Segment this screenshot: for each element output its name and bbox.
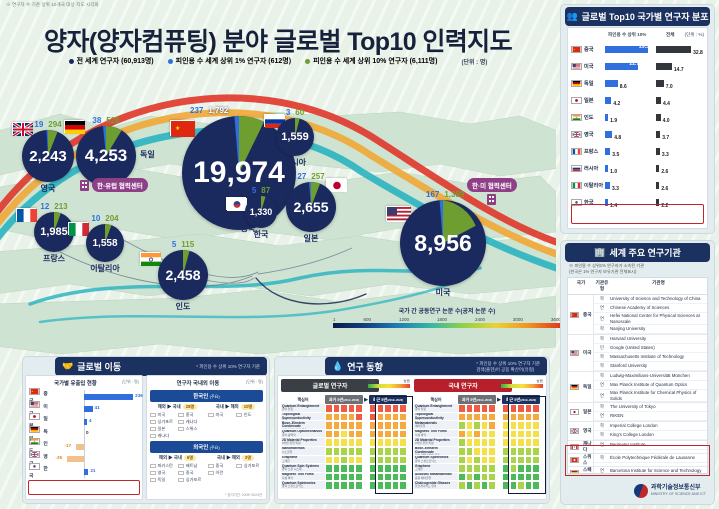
flag-germany-icon (64, 120, 84, 133)
researcher-flow-blocks: 한국인 (주요)해외 ▶ 국내 28명미국중국싱가포르캐나다일본스위스캐나다국내… (150, 390, 263, 483)
country-flow-card: 국가별 유출입 현황 (단위 : 명) ★ 중국236 미국41 일본4 독일0… (25, 375, 143, 500)
scale-tick: 1200 (399, 317, 409, 322)
heatmap-past (458, 456, 496, 465)
keyword-header: 핵심어 (281, 397, 325, 403)
institution-name: École Polytechnique Fédérale de Lausanne (610, 455, 707, 461)
institution-type: 연 (594, 382, 610, 388)
flag-de-icon (571, 80, 582, 87)
heatmap-recent (369, 456, 407, 465)
heatmap-past (458, 404, 496, 413)
heatmap-legend: 낮음 높음 (368, 379, 410, 388)
list-item: 연Chinese Academy of Sciences (594, 304, 707, 313)
institution-type: 학 (594, 296, 610, 302)
flow-country: 베트남 (178, 463, 203, 469)
heatmap-recent (502, 456, 540, 465)
heatmap-keyword: Topological Superconductivity위상 초전도 (414, 413, 458, 422)
flow-country: 미국 (208, 412, 233, 418)
mobility-panel: 🤝 글로벌 이동 * 피인용 수 상위 10% 연구자 기준 국가별 유출입 현… (22, 356, 270, 504)
heatmap-row: Topological Superconductivity위상 초전도 (414, 413, 543, 422)
node-top10: 213 (54, 202, 67, 211)
heatmap-keyword: Graphene그래핀 (281, 456, 325, 465)
title-unit: (단위 : 명) (122, 379, 139, 385)
heatmap-keyword: Quantum Spintronics양자 스핀트로닉스 (281, 481, 325, 490)
node-top10: 115 (181, 240, 194, 249)
bar-value: 8.6 (620, 84, 627, 90)
node-value: 2,243 (29, 148, 67, 165)
node-tags: 12 213 (40, 202, 67, 211)
bar-value: 3.5 (612, 152, 619, 158)
node-tags: 10 204 (91, 214, 118, 223)
title-text: 국가별 유출입 현황 (54, 381, 97, 387)
list-item: 민Google (United States) (594, 344, 707, 353)
node-tags: 19 294 (34, 120, 61, 129)
node-top1: 5 (252, 186, 256, 195)
node-tags: 5 87 (252, 186, 270, 195)
institution-type: 연 (594, 393, 610, 399)
legend-gradient (501, 384, 543, 388)
heatmap-recent (502, 473, 540, 482)
node-circle: 2,458 (158, 250, 208, 300)
legend-dot-icon (69, 59, 74, 64)
legend-low: 낮음 (368, 379, 375, 384)
legend-low: 낮음 (501, 379, 508, 384)
flag-uk-icon (12, 122, 32, 135)
flow-count: 10명 (241, 404, 256, 410)
trends-panel: 💧 연구 동향 * 피인용 수 상위 10% 연구자 기준 검색(출현)어 공동… (274, 356, 550, 504)
mobility-title: 글로벌 이동 (77, 360, 121, 373)
flag-korea-icon (226, 197, 246, 210)
scale-tick: 600 (363, 317, 371, 322)
institution-name: Nanjing University (610, 326, 707, 332)
flag-us-icon (570, 350, 579, 356)
heatmap-recent (369, 404, 407, 413)
flow-items: 미국중국싱가포르캐나다일본스위스캐나다 (150, 412, 205, 439)
node-top1: 167 (426, 190, 439, 199)
center-label: 한·미 협력센터 (467, 178, 517, 192)
flow-country: 인도 (236, 412, 261, 418)
people-icon: 👥 (566, 11, 577, 22)
domestic-caption: 국내 연구자 (414, 379, 512, 392)
bar-total: 2.6 (656, 160, 704, 178)
map-node-japan[interactable]: 27 257 2,655 일본 (286, 182, 336, 232)
flow-direction: 국내 ▶ 해외 3명 (208, 455, 263, 461)
row-value: -35 (56, 455, 63, 460)
global-heatmap: Quantum Entanglement양자 얽힘Topological Sup… (281, 404, 410, 490)
heatmap-keyword: Graphene그래핀 (414, 464, 458, 473)
flag-jp-icon (571, 97, 582, 104)
bar-value: 4.0 (663, 118, 670, 124)
mobility-subtitle: * 피인용 수 상위 10% 연구자 기준 (196, 364, 260, 370)
heatmap-past (458, 438, 496, 447)
flow-columns: 해외 ▶ 국내 6명파키스탄베트남영국중국독일싱가포르국내 ▶ 해외 3명중국싱… (150, 455, 263, 483)
bar-value: 3.3 (612, 186, 619, 192)
distribution-body: 피인용 수 상위 10% 전체 (단위 : %) ★중국29.332.8미국22… (567, 27, 708, 229)
flow-column: 국내 ▶ 해외 10명미국인도 (208, 404, 263, 439)
map-node-india[interactable]: 5 115 2,458 인도 (158, 250, 208, 300)
node-country: 독일 (140, 149, 152, 160)
map-node-usa[interactable]: 167 1,389 8,956 미국 (400, 200, 486, 286)
list-item: 학Harvard University (594, 335, 707, 344)
bar-value: 2.2 (661, 203, 668, 209)
group-items: 학The University of Tokyo연RIKEN (594, 403, 707, 421)
flag-cn-icon: ★ (571, 46, 582, 53)
node-country: 일본 (304, 233, 319, 244)
flag-kr-icon (571, 199, 582, 206)
title-text: 연구자 국내외 이동 (177, 381, 220, 387)
distribution-header: 👥 글로벌 Top10 국가별 연구자 분포 (565, 7, 710, 26)
heatmap-recent (502, 421, 540, 430)
top-note: ※ 연구자 수 기준 상위 10개국 대상 지도 시각화 (6, 2, 99, 8)
table-row: 한국21 (29, 465, 139, 478)
node-value: 2,458 (165, 267, 200, 283)
institution-name: Chinese Academy of Sciences (610, 305, 707, 311)
node-top1: 38 (92, 116, 101, 125)
domestic-heatmap: Quantum Entanglement양자 얽힘Topological Sup… (414, 404, 543, 490)
heatmap-recent (502, 447, 540, 456)
heatmap-past (458, 413, 496, 422)
heatmap-row: Graphene그래핀 (281, 456, 410, 465)
heatmap-past (325, 447, 363, 456)
heatmap-keyword: Topological Superconductivity위상 초전도 (281, 413, 325, 422)
recent-header: 최근 5년(2019~2023) (369, 395, 407, 404)
node-top10: 204 (105, 214, 118, 223)
bar-value: 22.7 (629, 61, 639, 67)
heatmap-row: Graphene그래핀 (414, 464, 543, 473)
node-top1: 19 (34, 120, 43, 129)
institution-type: 학 (594, 373, 610, 379)
flag-italy-icon (68, 222, 88, 235)
bar-value: 29.3 (639, 44, 649, 50)
scale-tick: 1800 (437, 317, 447, 322)
flag-uk-icon (29, 451, 40, 458)
node-circle: 1,559 (276, 118, 314, 156)
flag-uk-icon (570, 428, 579, 434)
heatmap-recent (369, 438, 407, 447)
institutions-body: 국가 기관유형 기관명 ★중국학University of Science an… (567, 277, 708, 474)
heatmap-row: Topological Superconductivity위상 초전도 (281, 413, 410, 422)
institution-type: 학 (594, 423, 610, 429)
col-country-header: 국가 (568, 280, 594, 292)
korea-mobility-highlight (28, 480, 140, 495)
row-bar-track: 41 (51, 403, 139, 416)
list-item: 학Massachusetts Institute of Technology (594, 353, 707, 362)
institutions-header: 🏢 세계 주요 연구기관 (565, 243, 710, 262)
flow-items: 파키스탄베트남영국중국독일싱가포르 (150, 463, 205, 483)
country-flow-rows: ★ 중국236 미국41 일본4 독일0 인도-17 영국-35 한국21 (29, 390, 139, 478)
node-country: 한국 (254, 229, 269, 240)
bar-value: 2.6 (661, 186, 668, 192)
flag-fr-icon (571, 148, 582, 155)
institution-group: 영국학Imperial College London학King's Colleg… (568, 422, 707, 441)
row-value: 21 (90, 468, 95, 473)
flow-block: 외국인 (주요)해외 ▶ 국내 6명파키스탄베트남영국중국독일싱가포르국내 ▶ … (150, 441, 263, 483)
heatmap-recent (502, 481, 540, 490)
table-row: 이탈리아3.32.6 (571, 177, 704, 194)
node-top10: 60 (295, 108, 304, 117)
group-items: 학Ludwig-Maximilians-Universität München연… (594, 372, 707, 402)
institution-group: 스위스학École Polytechnique Fédérale de Laus… (568, 454, 707, 467)
flow-count: 3명 (242, 455, 254, 461)
bar-top10: 1.9 (605, 109, 656, 127)
heatmap-row: Bose–Einstein Condensate보스-아인슈타인 응축 (414, 447, 543, 456)
node-top1: 3 (286, 108, 290, 117)
bar-top10: 4.2 (605, 92, 656, 110)
row-bar-track: 236 (51, 390, 139, 403)
institution-group: ★중국학University of Science and Technology… (568, 295, 707, 335)
heatmap-past (325, 404, 363, 413)
ministry-emblem-icon (634, 484, 648, 498)
list-item: 학Ludwig-Maximilians-Universität München (594, 372, 707, 381)
table-row: 인도1.94.0 (571, 109, 704, 126)
heatmap-row: Quantum Entanglement양자 얽힘 (414, 404, 543, 413)
flag-it-icon (571, 182, 582, 189)
row-country: 미국 (584, 63, 605, 70)
flow-country: 독일 (150, 477, 175, 483)
heatmap-row: Quantum Spintronics양자 스핀트로닉스 (414, 456, 543, 465)
bar-top10: 29.3 (605, 41, 656, 59)
heatmap-past (325, 430, 363, 439)
node-value: 1,985 (40, 226, 68, 238)
node-circle: 1,330 (245, 196, 277, 228)
institution-name: Barcelona Institute for Science and Tech… (610, 468, 707, 474)
heatmap-row: Magnetic Thin Films자성 박막 (281, 473, 410, 482)
col-top10-header: 피인용 수 상위 10% (608, 32, 666, 38)
map-node-russia[interactable]: 3 60 1,559 러시아 (276, 118, 314, 156)
institution-type: 학 (594, 455, 610, 461)
node-country: 인도 (176, 301, 191, 312)
heatmap-recent (502, 438, 540, 447)
legend-dot-icon (168, 59, 173, 64)
bar-total: 4.0 (656, 109, 704, 127)
institution-name: Ludwig-Maximilians-Universität München (610, 373, 707, 379)
group-country: 스위스 (568, 454, 594, 466)
past-header: 과거 5년(2014~2018) (325, 395, 363, 404)
institution-name: King's College London (610, 432, 707, 438)
distribution-col-headers: 피인용 수 상위 10% 전체 (단위 : %) (571, 32, 704, 38)
bar-total: 32.8 (656, 41, 704, 59)
list-item: 학Nanjing University (594, 325, 707, 334)
ministry-name-block: 과학기술정보통신부 MINISTRY OF SCIENCE AND ICT (651, 485, 706, 496)
flag-uk-icon (571, 131, 582, 138)
node-top10: 1,792 (208, 106, 228, 115)
table-row: 한국1.42.2 (571, 194, 704, 211)
node-circle: 2,243 (22, 130, 74, 182)
flow-country: 미국 (150, 412, 175, 418)
heatmap-keyword: Magnetic Thin Films자성 박막 (414, 430, 458, 439)
institutions-groups: ★중국학University of Science and Technology… (568, 295, 707, 474)
table-row: 미국22.714.7 (571, 58, 704, 75)
flow-country: 싱가포르 (236, 463, 261, 469)
institution-name: Max Planck Institute of Quantum Optics (610, 382, 707, 388)
heatmap-row: Metamaterials메타물질 (414, 421, 543, 430)
node-value: 4,253 (85, 146, 128, 166)
node-top10: 87 (261, 186, 270, 195)
flow-column: 해외 ▶ 국내 6명파키스탄베트남영국중국독일싱가포르 (150, 455, 205, 483)
heatmap-keyword: Acoustic Metamaterials음향 메타물질 (414, 473, 458, 482)
node-tags: 167 1,389 (426, 190, 464, 199)
heatmap-keyword: Quantum Entanglement양자 얽힘 (414, 404, 458, 413)
institution-type: 학 (594, 336, 610, 342)
bar-value: 7.0 (666, 84, 673, 90)
node-value: 2,655 (293, 199, 328, 215)
center-badge-korea-us[interactable]: 한·미 협력센터 (467, 178, 517, 205)
bar-value: 4.4 (663, 101, 670, 107)
legend-gradient (368, 384, 410, 388)
collaboration-scale: 국가 간 공동연구 논문 수(공저 논문 수) 1 600 1200 1800 … (333, 306, 561, 328)
institution-name: The University of Tokyo (610, 404, 707, 410)
researcher-flow-title: 연구자 국내외 이동 (단위 : 명) (150, 379, 263, 387)
institution-group: 독일학Ludwig-Maximilians-Universität Münche… (568, 372, 707, 403)
bar-total: 4.4 (656, 92, 704, 110)
col-type-header: 기관유형 (594, 280, 610, 292)
heatmap-past (325, 421, 363, 430)
flow-column: 국내 ▶ 해외 3명중국싱가포르이란 (208, 455, 263, 483)
node-value: 1,558 (92, 238, 117, 249)
trends-subtitle: * 피인용 수 상위 10% 연구자 기준 검색(출현)어 공동 확산어(유형) (476, 361, 540, 372)
heatmap-row: Acoustic Metamaterials음향 메타물질 (414, 473, 543, 482)
legend-unit: (단위 : 명) (461, 57, 487, 66)
heatmap-past (458, 447, 496, 456)
flow-country: 이란 (208, 470, 233, 476)
list-item: 학Stanford University (594, 362, 707, 371)
node-country: 영국 (41, 183, 56, 194)
node-country: 러시아 (284, 157, 306, 168)
legend-label: 피인용 수 세계 상위 1% 연구자 (612명) (176, 56, 291, 66)
row-value: 4 (89, 418, 92, 423)
node-top10: 1,389 (444, 190, 464, 199)
heatmap-past (325, 413, 363, 422)
map-node-uk[interactable]: 19 294 2,243 영국 (22, 130, 74, 182)
row-value: 41 (95, 405, 100, 410)
heatmap-keyword: Bose–Einstein Condensate보스-아인슈타인 응축 (281, 421, 325, 430)
distribution-rows: ★중국29.332.8미국22.714.7독일8.67.0일본4.24.4인도1… (571, 41, 704, 211)
table-row: 러시아1.02.6 (571, 160, 704, 177)
heatmap-recent (369, 481, 407, 490)
heatmap-past (458, 481, 496, 490)
keyword-header: 핵심어 (414, 397, 458, 403)
node-top10: 526 (106, 116, 119, 125)
heatmap-past (325, 481, 363, 490)
flow-country: 스위스 (178, 426, 203, 432)
flow-heading: 외국인 (주요) (150, 441, 263, 453)
flow-column: 해외 ▶ 국내 28명미국중국싱가포르캐나다일본스위스캐나다 (150, 404, 205, 439)
institution-group: 스페인연Barcelona Institute for Science and … (568, 467, 707, 474)
heatmap-past (325, 456, 363, 465)
scale-tick: 3000 (513, 317, 523, 322)
bar-top10: 22.7 (605, 58, 656, 76)
group-country: 독일 (568, 372, 594, 402)
list-item: 학École Polytechnique Fédérale de Lausann… (594, 454, 707, 463)
row-country: 이탈리아 (584, 182, 605, 189)
bar-total: 7.0 (656, 75, 704, 93)
institution-type: 학 (594, 326, 610, 332)
group-items: 연Barcelona Institute for Science and Tec… (594, 467, 707, 474)
row-value: -17 (65, 443, 72, 448)
flow-count: 28명 (183, 404, 198, 410)
heatmap-past (458, 473, 496, 482)
flow-columns: 해외 ▶ 국내 28명미국중국싱가포르캐나다일본스위스캐나다국내 ▶ 해외 10… (150, 404, 263, 439)
flag-in-icon (29, 438, 40, 445)
scale-gradient (333, 323, 561, 328)
bar-value: 2.6 (661, 169, 668, 175)
node-top1: 27 (297, 172, 306, 181)
flag-ru-icon (571, 165, 582, 172)
map-node-italy[interactable]: 10 204 1,558 이탈리아 (86, 224, 124, 262)
bar-value: 3.3 (662, 152, 669, 158)
heatmap-recent (502, 464, 540, 473)
institution-type: 연 (594, 442, 610, 448)
mobility-header: 🤝 글로벌 이동 * 피인용 수 상위 10% 연구자 기준 (55, 357, 267, 376)
flow-country: 중국 (208, 463, 233, 469)
global-col-headers: 핵심어 과거 5년(2014~2018) ▶ 최근 5년(2019~2023) (281, 395, 410, 404)
institution-type: 학 (594, 404, 610, 410)
heatmap-recent (369, 413, 407, 422)
node-circle: 8,956 (400, 200, 486, 286)
heatmap-past (458, 464, 496, 473)
flag-france-icon (16, 208, 36, 221)
table-row: 프랑스3.53.3 (571, 143, 704, 160)
map-node-korea[interactable]: 5 87 1,330 한국 (245, 196, 277, 228)
group-items: 학École Polytechnique Fédérale de Lausann… (594, 454, 707, 466)
mobility-source: * 분석기간: 2005~2024년 (225, 492, 262, 497)
building-icon (80, 180, 89, 191)
flow-direction: 해외 ▶ 국내 6명 (150, 455, 205, 461)
scale-tick: 2400 (475, 317, 485, 322)
group-items: 학University of Science and Technology of… (594, 295, 707, 334)
flag-india-icon (140, 252, 160, 265)
institution-type: 연 (594, 305, 610, 311)
flow-block: 한국인 (주요)해외 ▶ 국내 28명미국중국싱가포르캐나다일본스위스캐나다국내… (150, 390, 263, 439)
institution-type: 민 (594, 345, 610, 351)
heatmap-keyword: Chalcogenide Glasses칼코게나이드 유리 (414, 481, 458, 490)
institution-type: 학 (594, 363, 610, 369)
building-icon: 🏢 (594, 247, 605, 258)
heatmap-recent (502, 404, 540, 413)
institution-group: 캐나다연Perimeter Institute (568, 441, 707, 454)
center-badge-korea-europe[interactable]: 한-유럽 협력센터 (80, 178, 148, 192)
bar-value: 4.8 (614, 135, 621, 141)
heatmap-keyword: 2D Material Properties2차원 물질 특성 (414, 438, 458, 447)
map-node-germany[interactable]: 38 526 4,253 독일 (76, 126, 136, 186)
heatmap-recent (502, 430, 540, 439)
flow-country: 중국 (178, 470, 203, 476)
node-value: 19,974 (193, 156, 285, 190)
bar-total: 2.6 (656, 177, 704, 195)
heatmap-legend: 낮음 높음 (501, 379, 543, 388)
flag-jp-icon (29, 413, 40, 420)
bar-top10: 1.0 (605, 160, 656, 178)
distribution-unit: (단위 : %) (685, 32, 704, 38)
flag-de-icon (570, 384, 579, 390)
group-country: 미국 (568, 335, 594, 371)
heatmap-row: Chalcogenide Glasses칼코게나이드 유리 (414, 481, 543, 490)
distribution-title: 글로벌 Top10 국가별 연구자 분포 (582, 10, 709, 23)
node-country: 미국 (436, 287, 451, 298)
bar-value: 32.8 (693, 50, 703, 56)
col-total-header: 전체 (666, 32, 685, 38)
bar-total: 14.7 (656, 58, 704, 76)
title-unit: (단위 : 명) (246, 379, 263, 385)
institutions-note: ※ 피인용 수 상위1% 연구자가 소속된 기관 (한국은 1% 연구자 보유기… (569, 263, 644, 276)
node-top1: 5 (172, 240, 176, 249)
trends-domestic: 국내 연구자 낮음 높음 핵심어 과거 5년(2014~2018) ▶ 최근 5… (414, 379, 543, 496)
flag-china-icon: ★ (170, 120, 194, 136)
node-top1: 237 (190, 106, 203, 115)
row-country: 일본 (584, 97, 605, 104)
handshake-icon: 🤝 (62, 361, 73, 372)
heatmap-keyword: Nanomaterials나노물질 (281, 447, 325, 456)
heatmap-row: Nanomaterials나노물질 (281, 447, 410, 456)
